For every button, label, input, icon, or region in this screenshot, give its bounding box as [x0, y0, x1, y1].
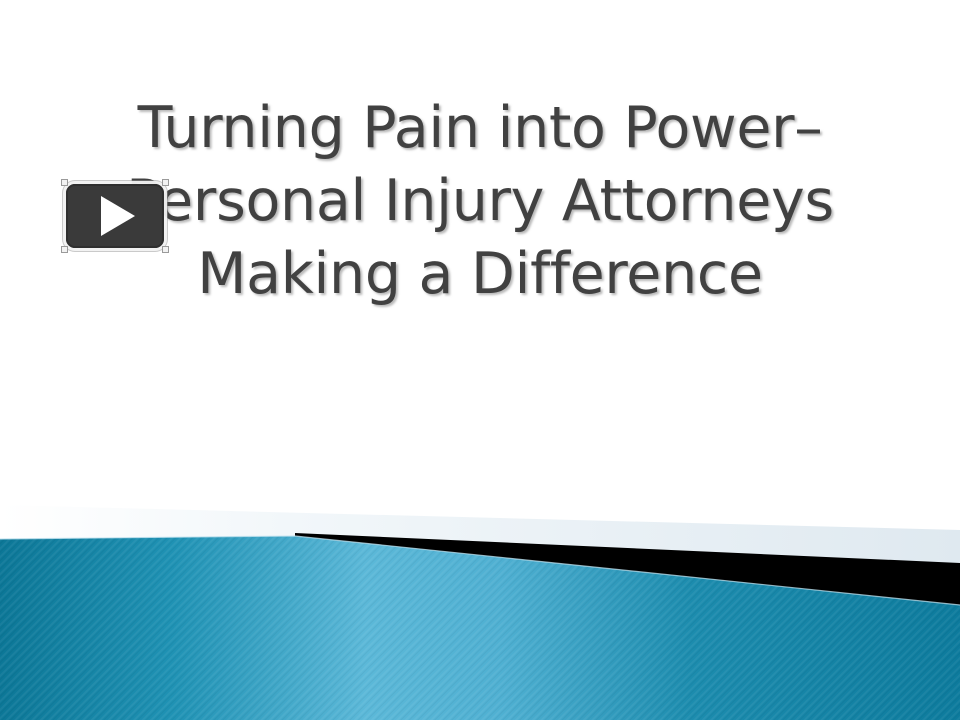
selection-handle-bottom-left[interactable] — [61, 246, 68, 253]
video-play-button[interactable] — [66, 184, 164, 248]
angled-banner-decoration — [0, 505, 960, 720]
title-line-1: Turning Pain into Power– — [0, 92, 960, 165]
selection-handle-top-right[interactable] — [162, 179, 169, 186]
play-icon — [101, 196, 135, 236]
selection-handle-bottom-right[interactable] — [162, 246, 169, 253]
title-line-3: Making a Difference — [0, 238, 960, 311]
selection-handle-top-left[interactable] — [61, 179, 68, 186]
slide-canvas: Turning Pain into Power– Personal Injury… — [0, 0, 960, 720]
